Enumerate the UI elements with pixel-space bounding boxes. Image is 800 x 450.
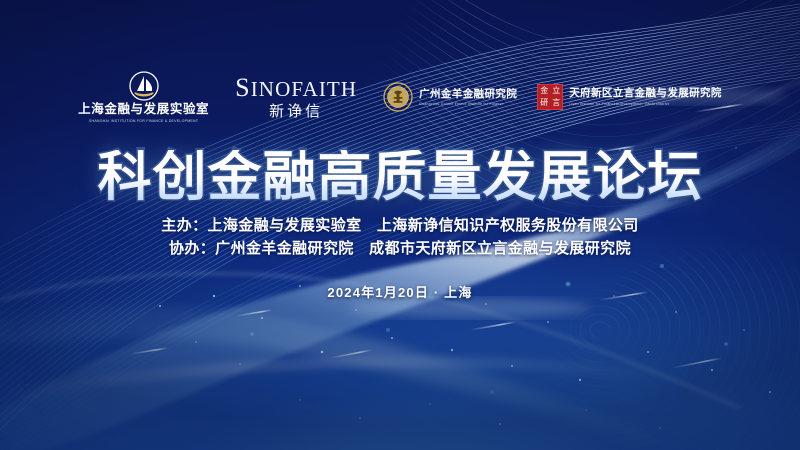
sinofaith-rest: INOFAITH (251, 77, 357, 101)
seal-char-3: 研 (540, 99, 548, 107)
logo1-cn-text: 上海金融与发展实验室 (78, 103, 209, 117)
logo-shanghai-finance-lab: 上海金融与发展实验室 SHANGHAI INSTITUTION FOR FINA… (78, 71, 209, 123)
logo4-en-text: Liyan Institute for Finance&Development,… (569, 102, 722, 106)
red-seal-icon: 金 立 研 言 (537, 84, 563, 110)
page-title: 科创金融高质量发展论坛 (0, 150, 800, 204)
seal-char-1: 金 (540, 87, 548, 95)
organizer-block: 主办：上海金融与发展实验室 上海新诤信知识产权服务股份有限公司 协办：广州金羊金… (0, 214, 800, 260)
seal-char-2: 立 (552, 87, 560, 95)
logo4-text-block: 天府新区立言金融与发展研究院 Liyan Institute for Finan… (569, 88, 722, 106)
sinofaith-wordmark: SINOFAITH (235, 75, 357, 101)
logo-liyan-institute: 金 立 研 言 天府新区立言金融与发展研究院 Liyan Institute f… (537, 84, 722, 110)
sailboat-icon (129, 71, 159, 101)
date-location: 2024年1月20日 · 上海 (0, 282, 800, 301)
sinofaith-cap: S (235, 73, 251, 102)
organizer-line-host: 主办：上海金融与发展实验室 上海新诤信知识产权服务股份有限公司 (0, 214, 800, 237)
logo3-text-block: 广州金羊金融研究院 Guangzhou Golden Fleece Instit… (419, 88, 517, 106)
gold-medallion-icon (383, 82, 413, 112)
organizer-line-coorganizer: 协办：广州金羊金融研究院 成都市天府新区立言金融与发展研究院 (0, 237, 800, 260)
logo3-en-text: Guangzhou Golden Fleece Institute for Fi… (419, 102, 517, 106)
logo4-cn-text: 天府新区立言金融与发展研究院 (569, 88, 722, 100)
logo3-cn-text: 广州金羊金融研究院 (419, 88, 517, 100)
conference-poster: 上海金融与发展实验室 SHANGHAI INSTITUTION FOR FINA… (0, 0, 800, 450)
logo-sinofaith: SINOFAITH 新诤信 (235, 75, 357, 120)
sinofaith-cn-text: 新诤信 (269, 105, 323, 120)
logo1-en-text: SHANGHAI INSTITUTION FOR FINANCE & DEVEL… (89, 119, 198, 123)
seal-char-4: 言 (552, 99, 560, 107)
logo-guangzhou-golden-fleece: 广州金羊金融研究院 Guangzhou Golden Fleece Instit… (383, 82, 517, 112)
logo-bar: 上海金融与发展实验室 SHANGHAI INSTITUTION FOR FINA… (0, 66, 800, 128)
